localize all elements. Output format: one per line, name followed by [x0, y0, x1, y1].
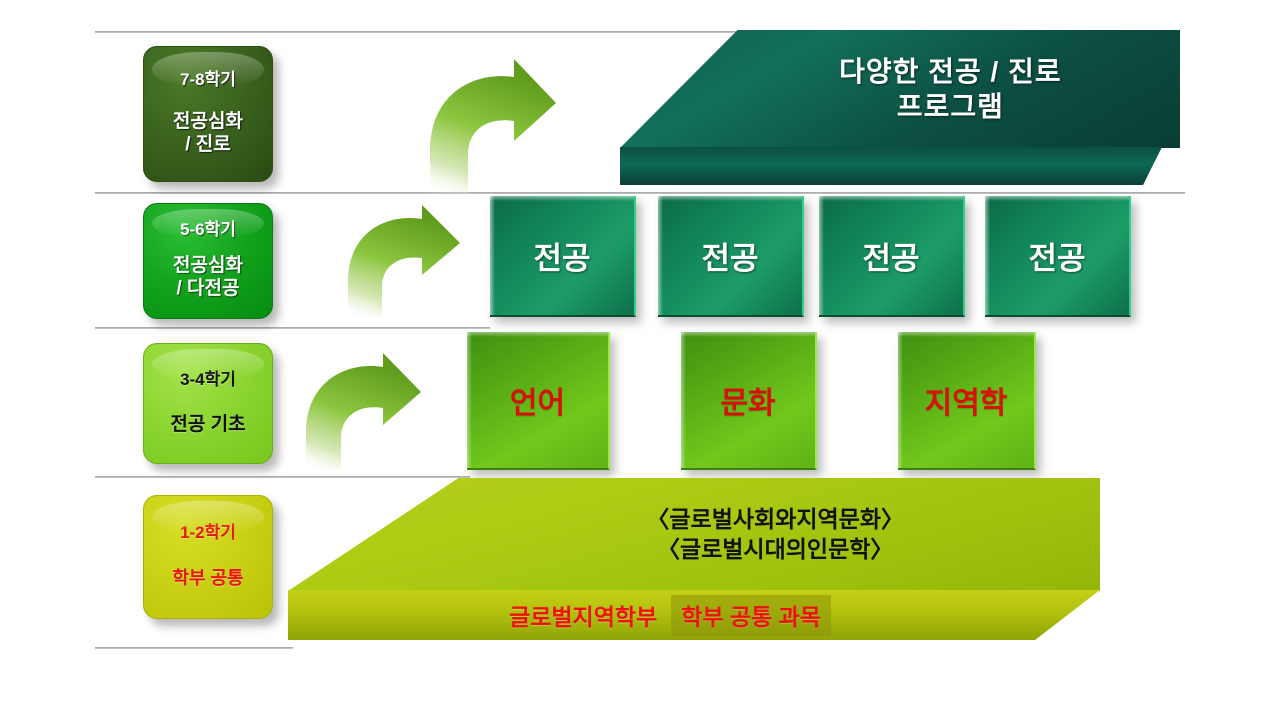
track-card-area-studies[interactable]: 지역학 — [898, 332, 1036, 470]
arrow-to-majors-icon — [330, 205, 505, 325]
program-slab-front — [620, 147, 1162, 185]
stage-chip-7-8-semester: 7-8학기 — [180, 71, 236, 90]
stage-chip-7-8-line2: / 진로 — [185, 133, 231, 156]
stage-chip-3-4-semester: 3-4학기 — [180, 371, 236, 390]
stage-chip-5-6-line1: 전공심화 — [173, 254, 243, 277]
track-card-culture[interactable]: 문화 — [681, 332, 817, 470]
track-card-language-label: 언어 — [510, 378, 565, 422]
stage-chip-1-2-line1: 학부 공통 — [172, 568, 243, 590]
track-card-language[interactable]: 언어 — [467, 332, 610, 470]
department-label: 글로벌지역학부 — [509, 598, 657, 632]
stage-chip-5-6-semester: 5-6학기 — [180, 221, 236, 240]
major-card-2-label: 전공 — [701, 233, 758, 278]
stage-chip-3-4-line1: 전공 기초 — [170, 413, 245, 436]
common-slab-front: 글로벌지역학부 학부 공통 과목 — [288, 590, 1100, 640]
stage-chip-5-6[interactable]: 5-6학기 전공심화 / 다전공 — [143, 203, 273, 319]
major-card-1[interactable]: 전공 — [490, 196, 636, 317]
stage-chip-5-6-line2: / 다전공 — [177, 277, 240, 300]
common-course-2: 〈글로벌시대의인문학〉 — [657, 535, 893, 565]
program-line-2: 프로그램 — [897, 89, 1004, 124]
common-course-1: 〈글로벌사회와지역문화〉 — [646, 505, 904, 535]
track-card-area-studies-label: 지역학 — [925, 378, 1008, 422]
program-slab-top: 다양한 전공 / 진로 프로그램 — [620, 30, 1180, 148]
stage-chip-7-8-line1: 전공심화 — [173, 110, 243, 133]
major-card-3[interactable]: 전공 — [819, 196, 965, 317]
stage-chip-1-2[interactable]: 1-2학기 학부 공통 — [143, 495, 273, 619]
stage-chip-1-2-semester: 1-2학기 — [180, 524, 236, 543]
stage-chip-7-8[interactable]: 7-8학기 전공심화 / 진로 — [143, 46, 273, 182]
arrow-to-tracks-icon — [288, 352, 463, 477]
major-card-1-label: 전공 — [533, 233, 590, 278]
curriculum-diagram: 다양한 전공 / 진로 프로그램 전공 전공 전공 전공 언어 문화 지역학 〈… — [0, 0, 1280, 720]
divider-rule-top — [95, 31, 763, 33]
divider-rule-2 — [95, 192, 1185, 194]
common-course-highlight: 학부 공통 과목 — [671, 595, 831, 636]
program-slab-text: 다양한 전공 / 진로 프로그램 — [620, 30, 1230, 148]
major-card-4[interactable]: 전공 — [985, 196, 1131, 317]
common-slab-top: 〈글로벌사회와지역문화〉 〈글로벌시대의인문학〉 — [288, 478, 1100, 591]
major-card-4-label: 전공 — [1028, 233, 1085, 278]
common-slab-front-row: 글로벌지역학부 학부 공통 과목 — [509, 595, 831, 636]
stage-chip-3-4[interactable]: 3-4학기 전공 기초 — [143, 343, 273, 464]
divider-rule-bottom — [95, 647, 293, 649]
program-line-1: 다양한 전공 / 진로 — [839, 54, 1061, 89]
divider-rule-3 — [95, 327, 490, 329]
common-slab-text: 〈글로벌사회와지역문화〉 〈글로벌시대의인문학〉 — [288, 478, 1181, 591]
arrow-to-program-icon — [410, 55, 610, 205]
major-card-3-label: 전공 — [862, 233, 919, 278]
track-card-culture-label: 문화 — [720, 378, 775, 422]
major-card-2[interactable]: 전공 — [658, 196, 804, 317]
